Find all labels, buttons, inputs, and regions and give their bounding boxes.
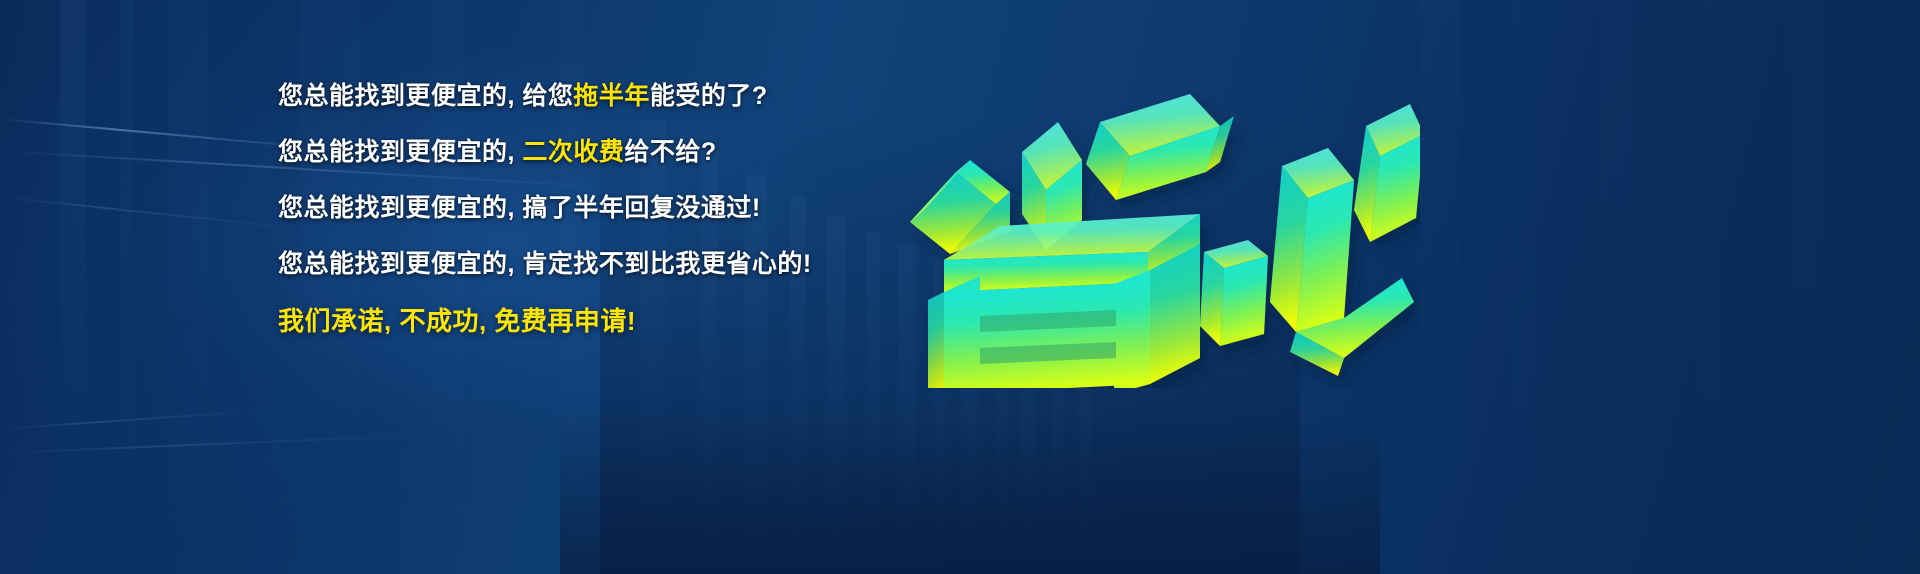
- promo-copy: 您总能找到更便宜的, 给您拖半年能受的了? 您总能找到更便宜的, 二次收费给不给…: [278, 84, 898, 334]
- promo-line-2-part-a: 您总能找到更便宜的,: [278, 138, 522, 166]
- promo-line-2-part-b: 给不给?: [624, 138, 716, 166]
- headline-3d-shengxin: [900, 58, 1420, 388]
- promo-line-1: 您总能找到更便宜的, 给您拖半年能受的了?: [278, 84, 898, 109]
- promo-banner: 您总能找到更便宜的, 给您拖半年能受的了? 您总能找到更便宜的, 二次收费给不给…: [0, 0, 1920, 574]
- promise-text: 我们承诺, 不成功, 免费再申请!: [278, 306, 636, 336]
- promo-line-3-text: 您总能找到更便宜的, 搞了半年回复没通过!: [278, 194, 761, 222]
- promise-line: 我们承诺, 不成功, 免费再申请!: [278, 308, 898, 334]
- promo-line-1-highlight: 拖半年: [573, 82, 650, 110]
- promo-line-1-part-b: 能受的了?: [650, 82, 768, 110]
- promo-line-2: 您总能找到更便宜的, 二次收费给不给?: [278, 140, 898, 165]
- promo-line-4: 您总能找到更便宜的, 肯定找不到比我更省心的!: [278, 252, 898, 277]
- promo-line-4-text: 您总能找到更便宜的, 肯定找不到比我更省心的!: [278, 250, 812, 278]
- promo-line-1-part-a: 您总能找到更便宜的, 给您: [278, 82, 573, 110]
- promo-line-2-highlight: 二次收费: [522, 138, 624, 166]
- promo-line-3: 您总能找到更便宜的, 搞了半年回复没通过!: [278, 196, 898, 221]
